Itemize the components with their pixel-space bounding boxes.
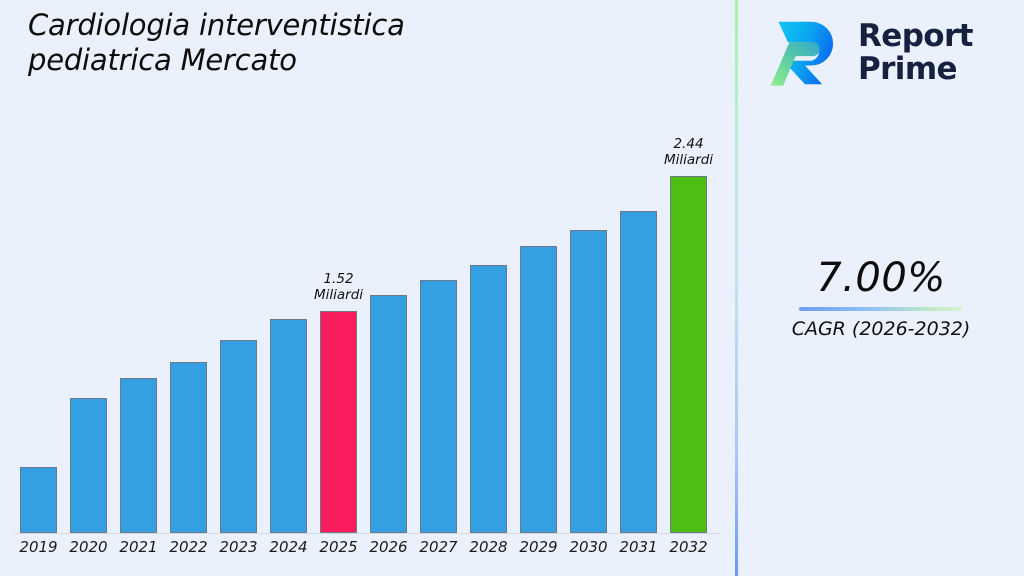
chart-panel: Cardiologia interventistica pediatrica M… bbox=[0, 0, 737, 576]
bar-2024 bbox=[270, 319, 307, 533]
x-tick-2026: 2026 bbox=[363, 538, 414, 556]
bar-2031 bbox=[620, 211, 657, 533]
x-tick-2023: 2023 bbox=[213, 538, 264, 556]
x-tick-2030: 2030 bbox=[563, 538, 614, 556]
cagr-block: 7.00% CAGR (2026-2032) bbox=[738, 255, 1024, 341]
brand-name-line2: Prime bbox=[858, 51, 957, 87]
bar-2023 bbox=[220, 340, 257, 533]
chart-infographic: Cardiologia interventistica pediatrica M… bbox=[0, 0, 1024, 576]
bar-2020 bbox=[70, 398, 107, 533]
bar-2022 bbox=[170, 362, 207, 533]
x-tick-2028: 2028 bbox=[463, 538, 514, 556]
x-tick-2032: 2032 bbox=[663, 538, 714, 556]
x-tick-2031: 2031 bbox=[613, 538, 664, 556]
x-tick-2019: 2019 bbox=[13, 538, 64, 556]
x-tick-2027: 2027 bbox=[413, 538, 464, 556]
cagr-caption: CAGR (2026-2032) bbox=[738, 317, 1024, 341]
x-tick-2021: 2021 bbox=[113, 538, 164, 556]
report-prime-r-logo-icon bbox=[766, 14, 844, 92]
bar-label-2025: 1.52 Miliardi bbox=[291, 271, 386, 303]
bar-2019 bbox=[20, 467, 57, 533]
bar-2026 bbox=[370, 295, 407, 533]
bar-label-2032: 2.44 Miliardi bbox=[641, 136, 736, 168]
bar-2030 bbox=[570, 230, 607, 533]
cagr-divider-rule bbox=[799, 307, 963, 311]
x-tick-2020: 2020 bbox=[63, 538, 114, 556]
bar-2032 bbox=[670, 176, 707, 533]
bar-2025 bbox=[320, 311, 357, 533]
x-tick-2029: 2029 bbox=[513, 538, 564, 556]
cagr-value: 7.00% bbox=[738, 255, 1024, 301]
bar-2028 bbox=[470, 265, 507, 533]
bar-2029 bbox=[520, 246, 557, 533]
brand-name-line1: Report bbox=[858, 18, 973, 54]
bar-2021 bbox=[120, 378, 157, 533]
x-tick-2025: 2025 bbox=[313, 538, 364, 556]
x-tick-2022: 2022 bbox=[163, 538, 214, 556]
bar-chart-plot-area: 1.52 Miliardi2.44 Miliardi 2019202020212… bbox=[0, 0, 737, 576]
bar-2027 bbox=[420, 280, 457, 533]
brand-panel: ReportPrime 7.00% CAGR (2026-2032) bbox=[738, 0, 1024, 576]
x-tick-2024: 2024 bbox=[263, 538, 314, 556]
x-axis-line bbox=[14, 533, 720, 534]
brand-logo: ReportPrime bbox=[766, 14, 973, 92]
brand-name: ReportPrime bbox=[858, 20, 973, 86]
